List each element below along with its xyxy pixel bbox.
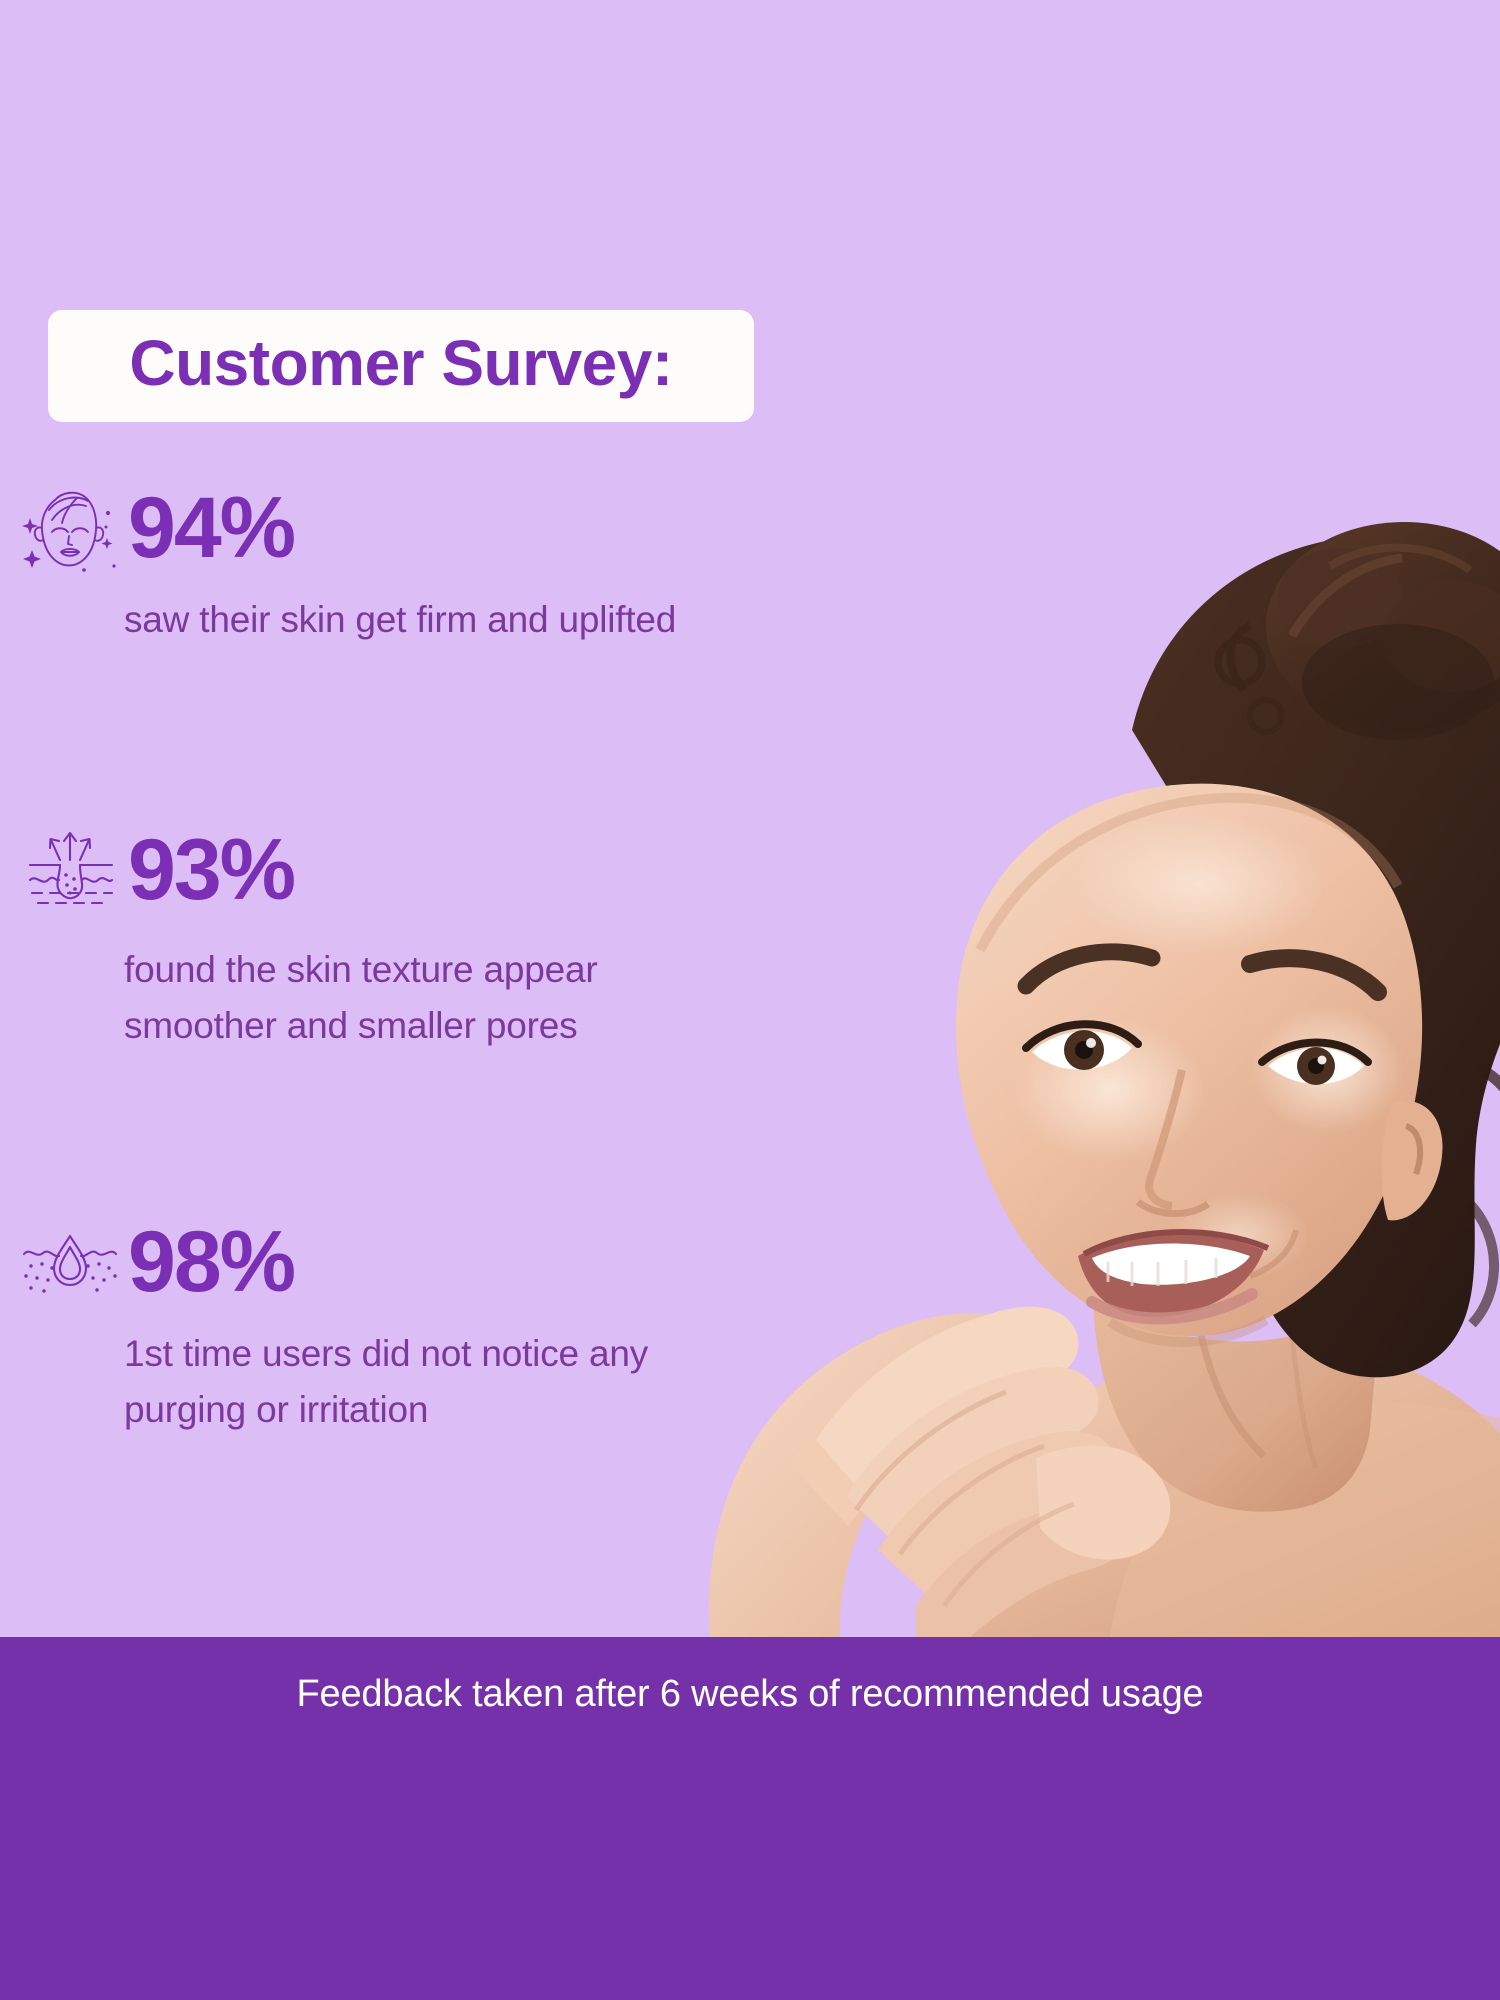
footer-bar: Feedback taken after 6 weeks of recommen… xyxy=(0,1637,1500,2000)
model-photo xyxy=(640,430,1500,1637)
droplet-skin-icon xyxy=(18,1214,122,1310)
face-sparkle-icon xyxy=(18,480,122,576)
stat-caption-3: 1st time users did not notice any purgin… xyxy=(0,1326,700,1438)
stat-header-1: 94% xyxy=(0,478,700,578)
stat-block-2: 93% found the skin texture appear smooth… xyxy=(0,820,700,1054)
page-title: Customer Survey: xyxy=(129,331,672,401)
stat-header-3: 98% xyxy=(0,1212,700,1312)
pore-skin-layers-icon xyxy=(18,822,122,918)
stat-block-1: 94% saw their skin get firm and uplifted xyxy=(0,478,700,648)
stat-caption-1: saw their skin get firm and uplifted xyxy=(0,592,700,648)
stat-value-1: 94% xyxy=(128,485,294,571)
stat-value-2: 93% xyxy=(128,827,294,913)
survey-infographic: Customer Survey: xyxy=(0,0,1500,2000)
stat-block-3: 98% 1st time users did not notice any pu… xyxy=(0,1212,700,1438)
stat-value-3: 98% xyxy=(128,1219,294,1305)
stat-header-2: 93% xyxy=(0,820,700,920)
page-title-badge: Customer Survey: xyxy=(48,310,754,422)
stat-caption-2: found the skin texture appear smoother a… xyxy=(0,942,700,1054)
footer-note: Feedback taken after 6 weeks of recommen… xyxy=(0,1673,1500,1716)
